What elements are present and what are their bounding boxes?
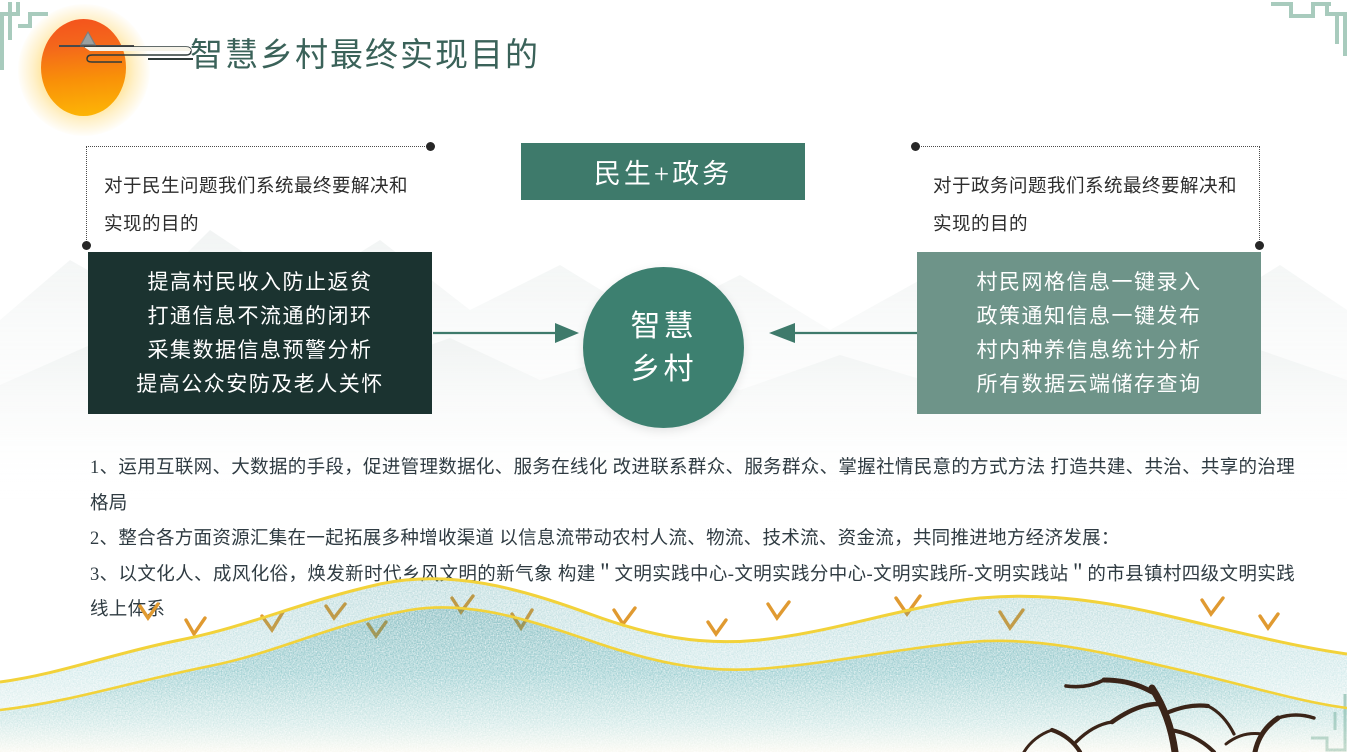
right-caption-text: 对于政务问题我们系统最终要解决和实现的目的 — [933, 168, 1252, 244]
right-caption-frame: 对于政务问题我们系统最终要解决和实现的目的 — [915, 146, 1260, 246]
summary-paragraph-2: 2、整合各方面资源汇集在一起拓展多种增收渠道 以信息流带动农村人流、物流、技术流… — [90, 522, 1295, 558]
center-circle-smart-village: 智慧 乡村 — [583, 267, 744, 428]
left-caption-dot-top-right — [426, 142, 435, 151]
page-title: 智慧乡村最终实现目的 — [190, 28, 540, 76]
left-caption-frame: 对于民生问题我们系统最终要解决和实现的目的 — [86, 146, 431, 246]
slide-title-block: 智慧乡村最终实现目的 — [0, 0, 760, 120]
right-caption-dot-top-left — [911, 142, 920, 151]
left-caption-left-border — [86, 146, 87, 246]
arrow-right-to-center-icon — [765, 322, 917, 344]
title-leader-line — [148, 58, 193, 60]
summary-paragraph-1: 1、运用互联网、大数据的手段，促进管理数据化、服务在线化 改进联系群众、服务群众… — [90, 451, 1295, 522]
left-goal-item: 打通信息不流通的闭环 — [88, 299, 432, 333]
left-caption-text: 对于民生问题我们系统最终要解决和实现的目的 — [104, 168, 423, 244]
arrow-left-to-center-icon — [433, 322, 581, 344]
left-goal-item: 提高村民收入防止返贫 — [88, 265, 432, 299]
right-goal-item: 所有数据云端储存查询 — [917, 367, 1261, 401]
circle-line-1: 智慧 — [631, 305, 697, 348]
right-caption-right-border — [1259, 146, 1260, 246]
corner-fret-top-right-icon — [1269, 0, 1347, 60]
circle-line-2: 乡村 — [631, 348, 697, 391]
right-caption-dot-bottom-right — [1255, 241, 1264, 250]
left-goal-item: 提高公众安防及老人关怀 — [88, 367, 432, 401]
left-goal-item: 采集数据信息预警分析 — [88, 333, 432, 367]
slide-canvas: 智慧乡村最终实现目的 民生+政务 对于民生问题我们系统最终要解决和实现的目的 对… — [0, 0, 1347, 752]
left-caption-dot-bottom-left — [82, 241, 91, 250]
right-goal-item: 村内种养信息统计分析 — [917, 333, 1261, 367]
title-ribbon-icon — [82, 45, 192, 63]
right-goals-panel: 村民网格信息一键录入 政策通知信息一键发布 村内种养信息统计分析 所有数据云端储… — [917, 252, 1261, 414]
bottom-mountain-scenery — [0, 562, 1347, 752]
right-goal-item: 政策通知信息一键发布 — [917, 299, 1261, 333]
center-header-badge: 民生+政务 — [521, 143, 805, 200]
left-goals-panel: 提高村民收入防止返贫 打通信息不流通的闭环 采集数据信息预警分析 提高公众安防及… — [88, 252, 432, 414]
right-goal-item: 村民网格信息一键录入 — [917, 265, 1261, 299]
